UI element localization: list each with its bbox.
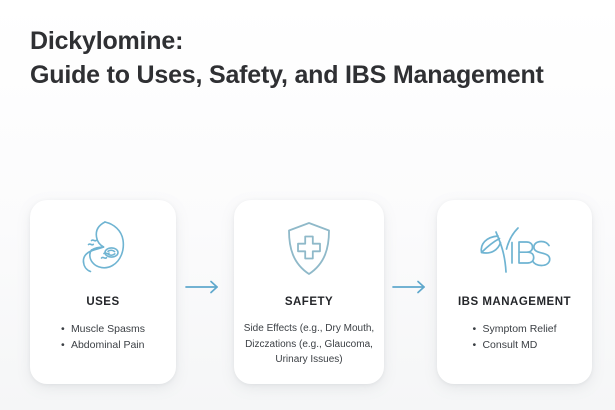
- uses-bullet-list: Muscle Spasms Abdominal Pain: [61, 321, 145, 353]
- cards-row: USES Muscle Spasms Abdominal Pain SAFETY: [0, 200, 615, 386]
- card-safety[interactable]: SAFETY Side Effects (e.g., Dry Mouth, Di…: [234, 200, 384, 384]
- ibs-leaf-logo-icon: [476, 218, 554, 280]
- ibs-bullet-list: Symptom Relief Consult MD: [472, 321, 556, 353]
- card-uses-heading: USES: [86, 296, 119, 308]
- list-item: Muscle Spasms: [61, 321, 145, 337]
- list-item: Abdominal Pain: [61, 337, 145, 353]
- title-line-2: Guide to Uses, Safety, and IBS Managemen…: [30, 60, 590, 91]
- page-title: Dickylomine: Guide to Uses, Safety, and …: [30, 26, 590, 91]
- safety-paragraph-line: Dizczations (e.g., Glaucoma,: [244, 337, 374, 353]
- title-line-1: Dickylomine:: [30, 26, 590, 57]
- list-item: Symptom Relief: [472, 321, 556, 337]
- card-ibs-body: Symptom Relief Consult MD: [445, 321, 584, 353]
- arrow-right-icon: [392, 278, 432, 296]
- shield-cross-icon: [284, 218, 334, 280]
- card-ibs-heading: IBS MANAGEMENT: [458, 296, 571, 308]
- infographic-canvas: Dickylomine: Guide to Uses, Safety, and …: [0, 0, 615, 410]
- safety-paragraph-line: Urinary Issues): [244, 352, 374, 368]
- list-item: Consult MD: [472, 337, 556, 353]
- card-uses[interactable]: USES Muscle Spasms Abdominal Pain: [30, 200, 176, 384]
- arrow-right-icon: [185, 278, 225, 296]
- card-safety-heading: SAFETY: [285, 296, 333, 308]
- card-safety-body: Side Effects (e.g., Dry Mouth, Dizczatio…: [242, 321, 376, 368]
- safety-paragraph-line: Side Effects (e.g., Dry Mouth,: [244, 321, 374, 337]
- safety-paragraph: Side Effects (e.g., Dry Mouth, Dizczatio…: [240, 321, 378, 368]
- stomach-icon: [74, 218, 132, 280]
- card-ibs-management[interactable]: IBS MANAGEMENT Symptom Relief Consult MD: [437, 200, 592, 384]
- card-uses-body: Muscle Spasms Abdominal Pain: [38, 321, 168, 353]
